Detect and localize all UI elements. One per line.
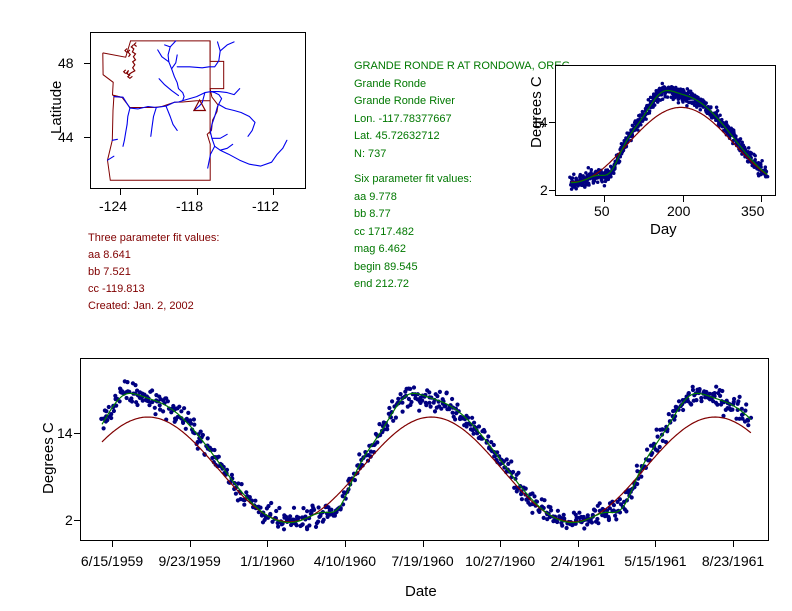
seasonal-xtick-200: 200 — [667, 203, 690, 219]
map-xtick-neg124: -124 — [99, 198, 127, 214]
timeseries-ytickmark-2 — [74, 520, 80, 521]
timeseries-graphic — [81, 359, 768, 540]
seasonal-xtick-50: 50 — [594, 203, 610, 219]
seasonal-xtick-350: 350 — [741, 203, 764, 219]
seasonal-ytickmark-14 — [549, 122, 555, 123]
timeseries-xtick-label-8: 8/23/1961 — [702, 553, 764, 569]
timeseries-xtickmark-1 — [190, 541, 191, 547]
map-ytickmark-44 — [84, 137, 90, 138]
map-ytick-48: 48 — [58, 55, 74, 71]
created-date: Created: Jan. 2, 2002 — [88, 298, 219, 315]
map-xtickmark-neg124 — [120, 189, 121, 195]
timeseries-xtick-label-2: 1/1/1960 — [240, 553, 295, 569]
timeseries-xtick-label-4: 7/19/1960 — [391, 553, 453, 569]
six-parameter-cc: cc 1717.482 — [354, 224, 573, 242]
map-xtick-neg118: -118 — [176, 198, 203, 214]
timeseries-panel — [80, 358, 769, 541]
timeseries-xtick-label-6: 2/4/1961 — [551, 553, 606, 569]
timeseries-ytick-14: 14 — [57, 425, 73, 441]
spacer — [354, 163, 573, 171]
timeseries-xtickmark-6 — [578, 541, 579, 547]
seasonal-ytick-14: 14 — [532, 114, 548, 130]
timeseries-xtick-label-1: 9/23/1959 — [159, 553, 221, 569]
timeseries-xtick-label-0: 6/15/1959 — [81, 553, 143, 569]
station-n: N: 737 — [354, 146, 573, 164]
seasonal-plot-graphic — [556, 66, 775, 195]
timeseries-xlabel: Date — [405, 583, 437, 600]
map-ytickmark-48 — [84, 63, 90, 64]
map-xtick-neg112: -112 — [252, 198, 279, 214]
timeseries-xtickmark-2 — [267, 541, 268, 547]
timeseries-xtickmark-5 — [500, 541, 501, 547]
three-parameter-block: Three parameter fit values: aa 8.641 bb … — [88, 230, 219, 315]
figure-canvas: Latitude 48 44 -124 -118 -112 Three para… — [0, 0, 792, 611]
timeseries-ytickmark-14 — [74, 433, 80, 434]
six-parameter-begin: begin 89.545 — [354, 259, 573, 277]
seasonal-xlabel: Day — [650, 221, 677, 238]
six-parameter-end: end 212.72 — [354, 276, 573, 294]
timeseries-xtickmark-3 — [345, 541, 346, 547]
map-ytick-44: 44 — [58, 129, 74, 145]
three-parameter-aa: aa 8.641 — [88, 247, 219, 264]
seasonal-ylabel: Degrees C — [528, 76, 545, 148]
seasonal-ytickmark-2 — [549, 190, 555, 191]
six-parameter-mag: mag 6.462 — [354, 241, 573, 259]
timeseries-xtickmark-7 — [655, 541, 656, 547]
timeseries-xtickmark-8 — [733, 541, 734, 547]
seasonal-xtickmark-50 — [604, 196, 605, 202]
seasonal-ytick-2: 2 — [540, 182, 548, 198]
three-parameter-bb: bb 7.521 — [88, 264, 219, 281]
timeseries-xtickmark-0 — [112, 541, 113, 547]
map-panel — [90, 32, 306, 189]
seasonal-xtickmark-200 — [683, 196, 684, 202]
map-xtickmark-neg112 — [273, 189, 274, 195]
timeseries-xtick-label-3: 4/10/1960 — [314, 553, 376, 569]
three-parameter-heading: Three parameter fit values: — [88, 230, 219, 247]
timeseries-ylabel: Degrees C — [40, 422, 57, 494]
seasonal-plot-panel — [555, 65, 776, 196]
six-parameter-bb: bb 8.77 — [354, 206, 573, 224]
seasonal-xtickmark-350 — [761, 196, 762, 202]
map-xtickmark-neg118 — [197, 189, 198, 195]
timeseries-ytick-2: 2 — [65, 512, 73, 528]
timeseries-xtickmark-4 — [423, 541, 424, 547]
station-title: GRANDE RONDE R AT RONDOWA, OREG. — [354, 58, 573, 76]
three-parameter-cc: cc -119.813 — [88, 281, 219, 298]
map-graphic — [91, 33, 305, 188]
timeseries-xtick-label-7: 5/15/1961 — [624, 553, 686, 569]
timeseries-xtick-label-5: 10/27/1960 — [465, 553, 535, 569]
map-ylabel: Latitude — [48, 81, 65, 134]
